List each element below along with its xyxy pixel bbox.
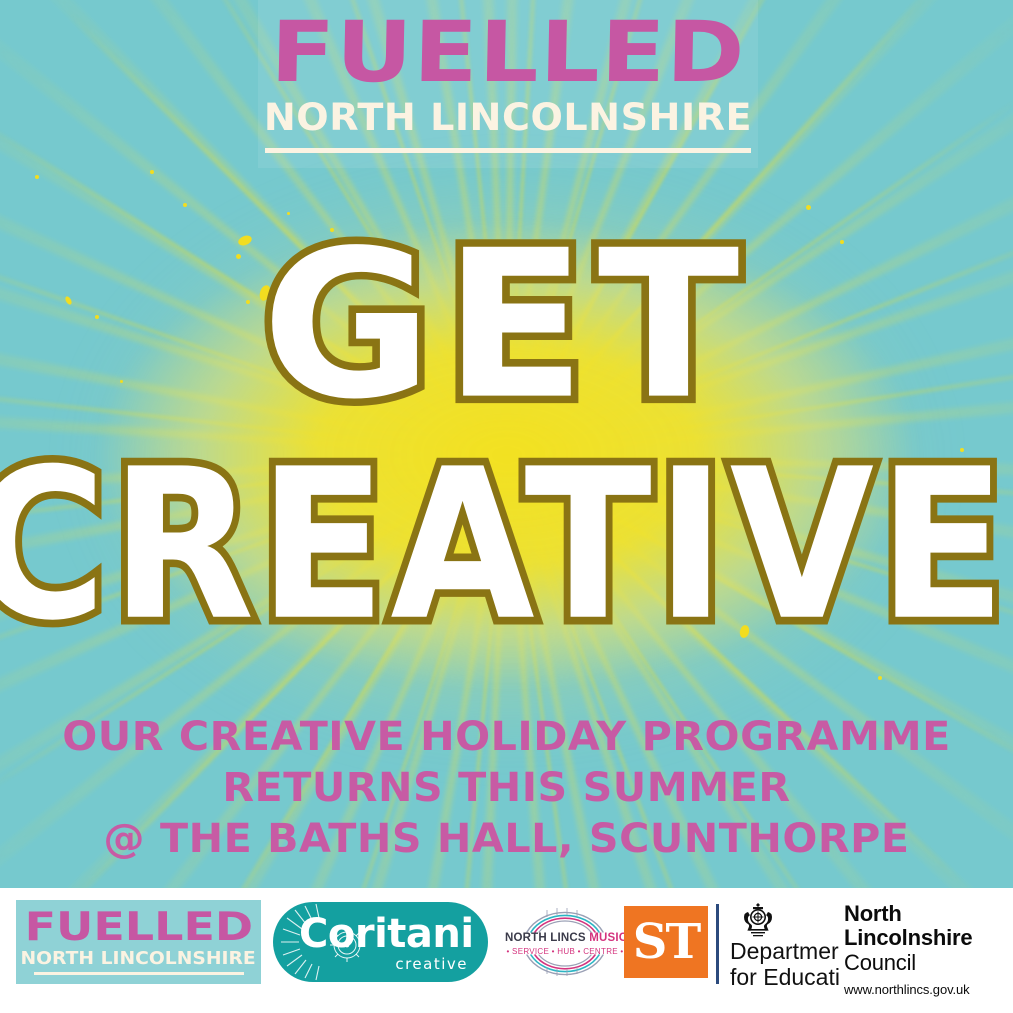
paint-speck <box>287 212 290 215</box>
paint-speck <box>913 520 924 531</box>
paint-speck <box>840 240 844 244</box>
footer-logo-council: North Lincolnshire Council www.northlinc… <box>840 902 1013 992</box>
burst-core <box>0 145 1013 765</box>
footer-fuelled-brand: FUELLED <box>24 909 253 946</box>
music-hub-name-prefix: NORTH LINCS <box>505 932 589 944</box>
paint-speck <box>178 465 182 469</box>
header-logo-fuelled: FUELLED NORTH LINCOLNSHIRE <box>258 0 758 168</box>
coritani-tagline: creative <box>395 955 468 973</box>
paint-speck <box>183 203 187 207</box>
header-underline <box>265 148 751 153</box>
paint-speck <box>960 448 964 452</box>
footer-fuelled-region: NORTH LINCOLNSHIRE <box>21 949 256 969</box>
paint-speck <box>236 254 241 259</box>
subcopy-block: OUR CREATIVE HOLIDAY PROGRAMME RETURNS T… <box>0 712 1013 866</box>
dfe-divider <box>716 904 719 984</box>
paint-speck <box>35 175 39 179</box>
footer-logo-fuelled: FUELLED NORTH LINCOLNSHIRE <box>16 900 261 984</box>
subcopy-line-2: RETURNS THIS SUMMER <box>0 763 1013 814</box>
royal-crest-icon <box>736 902 780 938</box>
dfe-name: Departmer for Educati <box>730 938 840 986</box>
st-wordmark: ST <box>633 918 699 966</box>
dfe-name-line-1: Departmer <box>730 938 840 964</box>
footer-logo-st-mark: ST <box>624 906 708 978</box>
paint-speck <box>806 205 811 210</box>
council-url: www.northlincs.gov.uk <box>844 982 1013 997</box>
music-hub-name-accent: MUSIC <box>589 932 627 944</box>
footer-logo-coritani: Coritani creative <box>273 902 488 982</box>
paint-speck <box>246 300 250 304</box>
paint-speck <box>298 252 302 256</box>
subcopy-line-1: OUR CREATIVE HOLIDAY PROGRAMME <box>0 712 1013 763</box>
footer-fuelled-underline <box>34 972 244 975</box>
paint-speck <box>330 228 334 232</box>
music-hub-subtitle: • SERVICE • HUB • CENTRE • <box>505 947 625 956</box>
paint-speck <box>95 315 99 319</box>
dfe-name-line-2: for Educati <box>730 964 840 986</box>
paint-speck <box>120 380 123 383</box>
paint-speck <box>878 676 882 680</box>
coritani-wordmark: Coritani <box>299 914 474 954</box>
poster-canvas: FUELLED NORTH LINCOLNSHIRE GET CREATIVE!… <box>0 0 1013 1013</box>
header-brand-text: FUELLED <box>270 14 747 91</box>
footer-logo-dfe: Departmer for Educati <box>716 902 844 986</box>
subcopy-line-3: @ THE BATHS HALL, SCUNTHORPE <box>0 814 1013 865</box>
council-line-2: Lincolnshire <box>844 926 1013 950</box>
music-hub-name: NORTH LINCS MUSIC <box>505 932 625 944</box>
footer-logo-music-hub: NORTH LINCS MUSIC • SERVICE • HUB • CENT… <box>505 902 625 982</box>
council-line-3: Council <box>844 950 1013 975</box>
footer-logo-bar: FUELLED NORTH LINCOLNSHIRE <box>0 888 1013 1013</box>
paint-speck <box>150 170 154 174</box>
header-region-text: NORTH LINCOLNSHIRE <box>264 97 752 140</box>
council-line-1: North <box>844 902 1013 926</box>
